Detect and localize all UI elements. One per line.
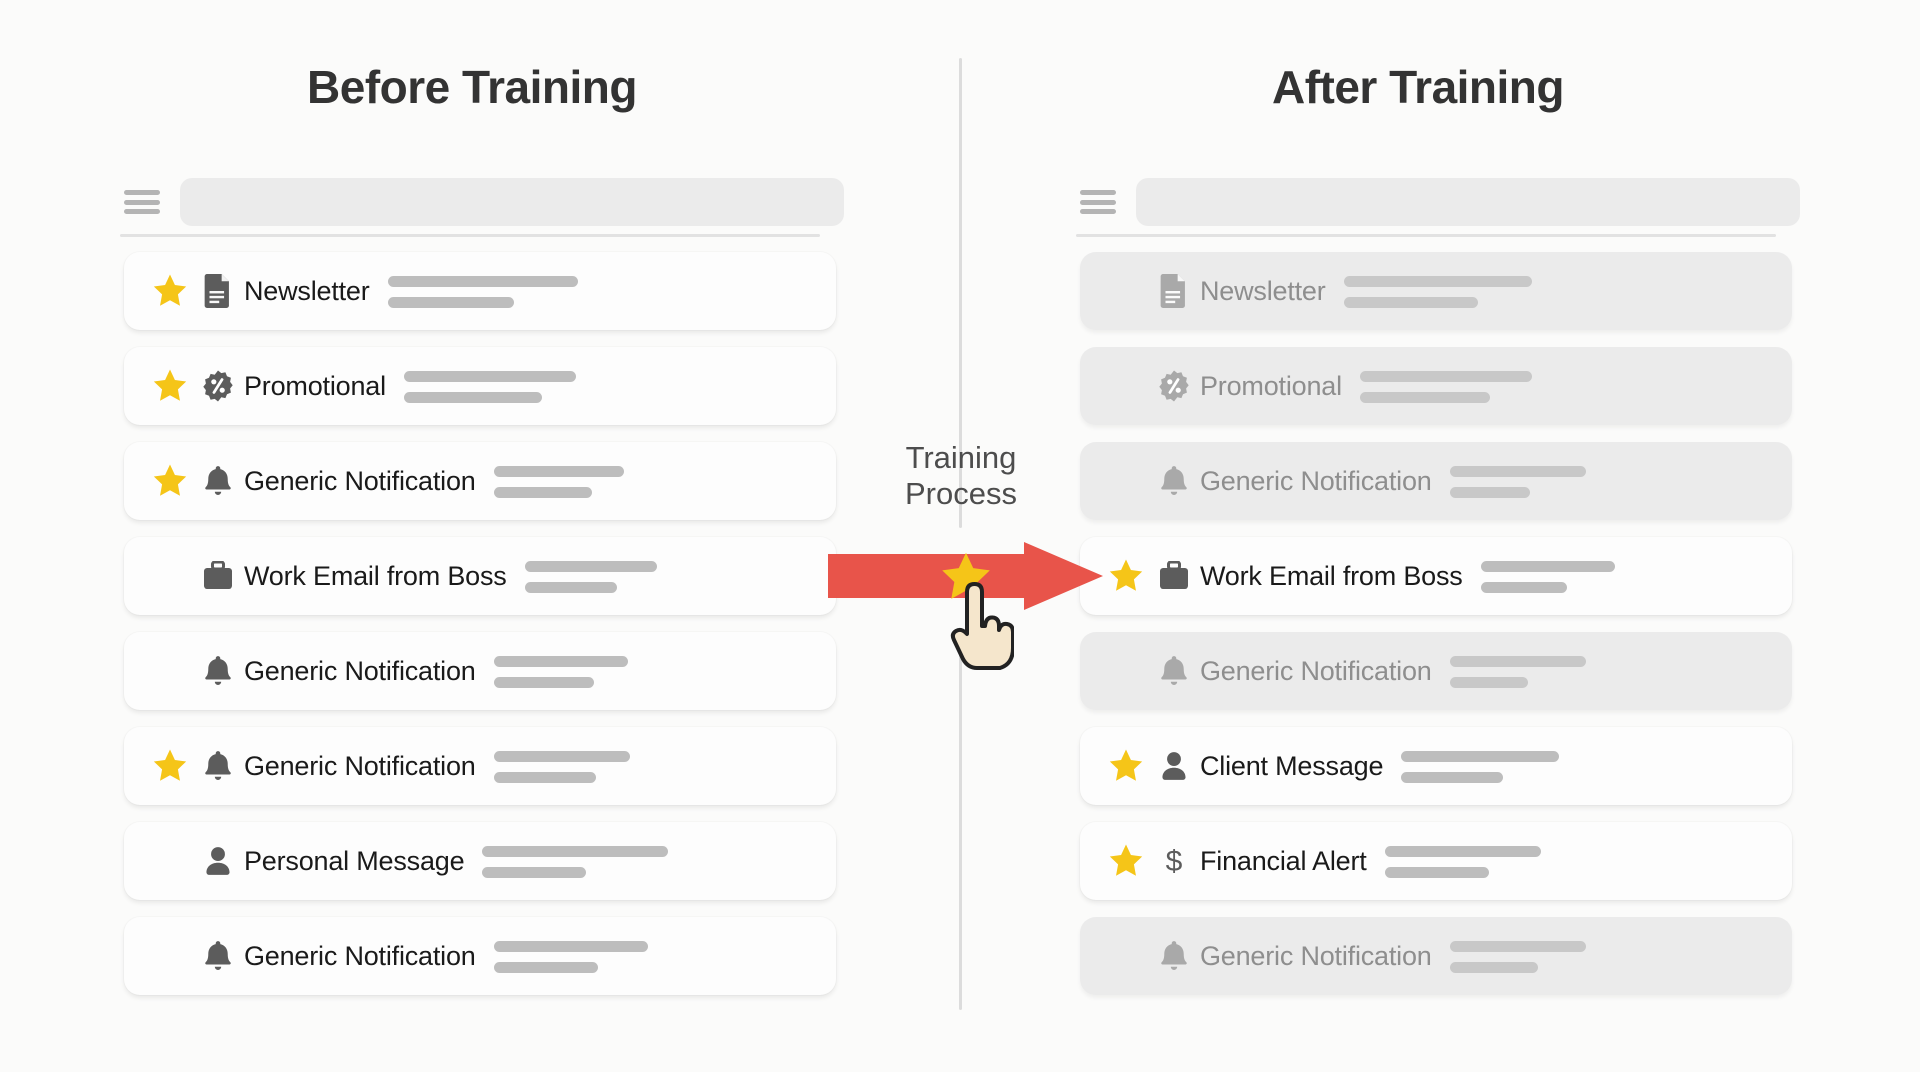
list-item-preview-placeholder [388, 275, 578, 308]
star-icon[interactable] [144, 367, 196, 405]
list-item-label: Generic Notification [1200, 941, 1432, 972]
list-item[interactable]: $Financial Alert [1080, 822, 1792, 900]
list-item[interactable]: Work Email from Boss [1080, 537, 1792, 615]
list-item-label: Generic Notification [1200, 656, 1432, 687]
app-chrome-before [124, 176, 844, 228]
list-item-preview-placeholder [1450, 940, 1586, 973]
percent-badge-icon [1152, 370, 1196, 402]
dollar-icon: $ [1152, 844, 1196, 878]
list-item[interactable]: Generic Notification [1080, 917, 1792, 995]
list-item-preview-placeholder [482, 845, 668, 878]
list-item-preview-placeholder [1450, 465, 1586, 498]
star-icon[interactable] [144, 462, 196, 500]
inbox-list-after: NewsletterPromotionalGeneric Notificatio… [1080, 252, 1792, 995]
list-item-preview-placeholder [1450, 655, 1586, 688]
list-item-label: Financial Alert [1200, 846, 1367, 877]
list-item-label: Generic Notification [244, 466, 476, 497]
list-item[interactable]: Promotional [124, 347, 836, 425]
search-input[interactable] [1136, 178, 1800, 226]
person-icon [196, 846, 240, 876]
briefcase-icon [1152, 561, 1196, 591]
list-item-label: Work Email from Boss [244, 561, 507, 592]
document-icon [196, 274, 240, 308]
star-icon[interactable] [1100, 747, 1152, 785]
diagram-canvas: Before TrainingNewsletterPromotionalGene… [0, 0, 1920, 1072]
list-item[interactable]: Newsletter [124, 252, 836, 330]
column-title-after: After Training [1068, 60, 1768, 114]
training-process-label: Training Process [836, 440, 1086, 511]
list-item[interactable]: Generic Notification [124, 632, 836, 710]
list-item-preview-placeholder [494, 655, 628, 688]
percent-badge-icon [196, 370, 240, 402]
chrome-separator-after [1076, 234, 1776, 237]
list-item-label: Personal Message [244, 846, 464, 877]
chrome-separator-before [120, 234, 820, 237]
app-chrome-after [1080, 176, 1800, 228]
list-item-label: Promotional [1200, 371, 1342, 402]
list-item-preview-placeholder [404, 370, 576, 403]
list-item[interactable]: Generic Notification [124, 442, 836, 520]
list-item[interactable]: Generic Notification [1080, 442, 1792, 520]
list-item[interactable]: Generic Notification [124, 917, 836, 995]
bell-icon [196, 940, 240, 972]
list-item-label: Generic Notification [244, 941, 476, 972]
hamburger-menu-icon[interactable] [1080, 188, 1116, 216]
inbox-list-before: NewsletterPromotionalGeneric Notificatio… [124, 252, 836, 995]
list-item-preview-placeholder [1385, 845, 1541, 878]
list-item-label: Promotional [244, 371, 386, 402]
list-item-preview-placeholder [494, 465, 624, 498]
star-icon[interactable] [1100, 842, 1152, 880]
bell-icon [196, 655, 240, 687]
list-item-label: Work Email from Boss [1200, 561, 1463, 592]
list-item-label: Generic Notification [244, 656, 476, 687]
document-icon [1152, 274, 1196, 308]
list-item-preview-placeholder [1401, 750, 1559, 783]
bell-icon [1152, 465, 1196, 497]
bell-icon [1152, 655, 1196, 687]
list-item[interactable]: Newsletter [1080, 252, 1792, 330]
column-after: After TrainingNewsletterPromotionalGener… [1042, 0, 1832, 1072]
column-title-before: Before Training [122, 60, 822, 114]
star-icon[interactable] [144, 272, 196, 310]
list-item-label: Client Message [1200, 751, 1383, 782]
bell-icon [196, 750, 240, 782]
list-item-preview-placeholder [1360, 370, 1532, 403]
list-item[interactable]: Generic Notification [124, 727, 836, 805]
list-item-label: Newsletter [1200, 276, 1326, 307]
list-item[interactable]: Work Email from Boss [124, 537, 836, 615]
list-item[interactable]: Promotional [1080, 347, 1792, 425]
pointing-hand-cursor-icon [940, 578, 1014, 670]
list-item-label: Newsletter [244, 276, 370, 307]
center-divider-bottom [959, 640, 962, 1010]
bell-icon [196, 465, 240, 497]
list-item[interactable]: Client Message [1080, 727, 1792, 805]
search-input[interactable] [180, 178, 844, 226]
list-item-preview-placeholder [494, 750, 630, 783]
list-item-preview-placeholder [494, 940, 648, 973]
list-item[interactable]: Generic Notification [1080, 632, 1792, 710]
hamburger-menu-icon[interactable] [124, 188, 160, 216]
list-item-preview-placeholder [525, 560, 657, 593]
person-icon [1152, 751, 1196, 781]
column-before: Before TrainingNewsletterPromotionalGene… [86, 0, 876, 1072]
star-icon[interactable] [1100, 557, 1152, 595]
list-item-preview-placeholder [1481, 560, 1615, 593]
list-item-preview-placeholder [1344, 275, 1532, 308]
briefcase-icon [196, 561, 240, 591]
bell-icon [1152, 940, 1196, 972]
list-item-label: Generic Notification [244, 751, 476, 782]
svg-text:$: $ [1166, 845, 1183, 878]
list-item[interactable]: Personal Message [124, 822, 836, 900]
star-icon[interactable] [144, 747, 196, 785]
list-item-label: Generic Notification [1200, 466, 1432, 497]
